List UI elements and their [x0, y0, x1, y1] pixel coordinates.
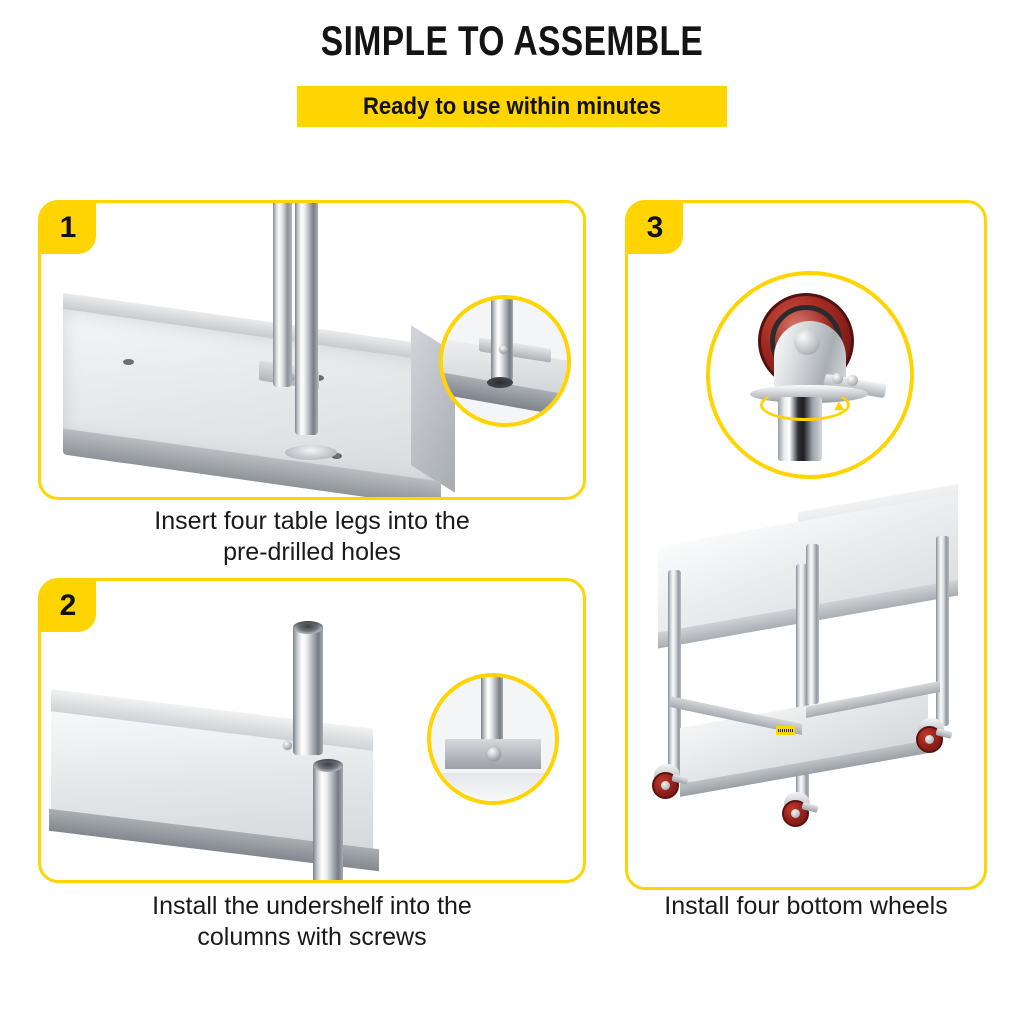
column-tube-opening — [313, 759, 343, 772]
caster-hub — [661, 781, 670, 790]
step-1-caption: Insert four table legs into the pre-dril… — [38, 506, 586, 568]
caption-line-2: columns with screws — [38, 922, 586, 953]
step-2-photo — [41, 581, 583, 880]
table-leg-rear-right — [936, 536, 949, 726]
inset-screw — [499, 345, 508, 354]
inset-artwork — [443, 299, 567, 423]
brake-pin — [847, 375, 858, 386]
step-panel-3: 3 — [625, 200, 987, 890]
caster-hub — [791, 809, 800, 818]
header: SIMPLE TO ASSEMBLE Ready to use within m… — [0, 0, 1024, 165]
column-tube-opening — [293, 621, 323, 634]
caption-line-1: Install four bottom wheels — [615, 891, 997, 922]
table-base-illustration — [63, 313, 463, 493]
caster-hub — [794, 329, 820, 355]
step-1-inset-detail — [439, 295, 571, 427]
inset-hole — [487, 377, 513, 388]
swivel-caster-illustration — [740, 293, 890, 461]
inset-column-tube — [481, 673, 503, 745]
assembled-table-illustration — [646, 498, 976, 838]
subtitle-text: Ready to use within minutes — [363, 93, 661, 121]
step-3-inset-detail — [706, 271, 914, 479]
step-panel-2: 2 — [38, 578, 586, 883]
step-2-caption: Install the undershelf into the columns … — [38, 891, 586, 953]
table-leg-front — [295, 200, 318, 435]
step-number-label: 2 — [60, 591, 77, 621]
step-3-caption: Install four bottom wheels — [615, 891, 997, 922]
step-number-label: 1 — [60, 213, 77, 243]
column-tube-rear — [293, 625, 323, 755]
step-3-photo — [628, 203, 984, 887]
subtitle-banner: Ready to use within minutes — [297, 86, 727, 127]
shelf-screw — [283, 741, 292, 750]
caster-front-right — [782, 788, 816, 828]
step-panel-1: 1 — [38, 200, 586, 500]
step-number-badge-1: 1 — [40, 202, 96, 254]
step-2-inset-detail — [427, 673, 559, 805]
inset-leg-tube — [491, 295, 513, 381]
table-leg-rear-left — [806, 544, 819, 704]
caption-line-2: pre-drilled holes — [38, 537, 586, 568]
page-title: SIMPLE TO ASSEMBLE — [102, 18, 921, 64]
caster-hub — [925, 735, 934, 744]
table-leg-rear — [273, 200, 292, 387]
caster-brake-pins — [832, 373, 862, 385]
vevor-brand-label — [776, 726, 795, 735]
column-tube-front — [313, 763, 343, 883]
pre-drilled-hole — [123, 359, 134, 365]
caption-line-1: Install the undershelf into the — [38, 891, 586, 922]
step-number-badge-2: 2 — [40, 580, 96, 632]
step-1-photo — [41, 203, 583, 497]
step-number-label: 3 — [647, 213, 664, 243]
leg-foot-flange — [285, 445, 337, 460]
caster-rear-right — [916, 714, 950, 754]
inset-artwork — [431, 677, 555, 801]
caster-front-left — [652, 760, 686, 800]
caption-line-1: Insert four table legs into the — [38, 506, 586, 537]
inset-reflection — [431, 773, 555, 801]
step-number-badge-3: 3 — [627, 202, 683, 254]
brake-pin — [832, 373, 843, 384]
inset-fastening-screw — [487, 747, 501, 761]
